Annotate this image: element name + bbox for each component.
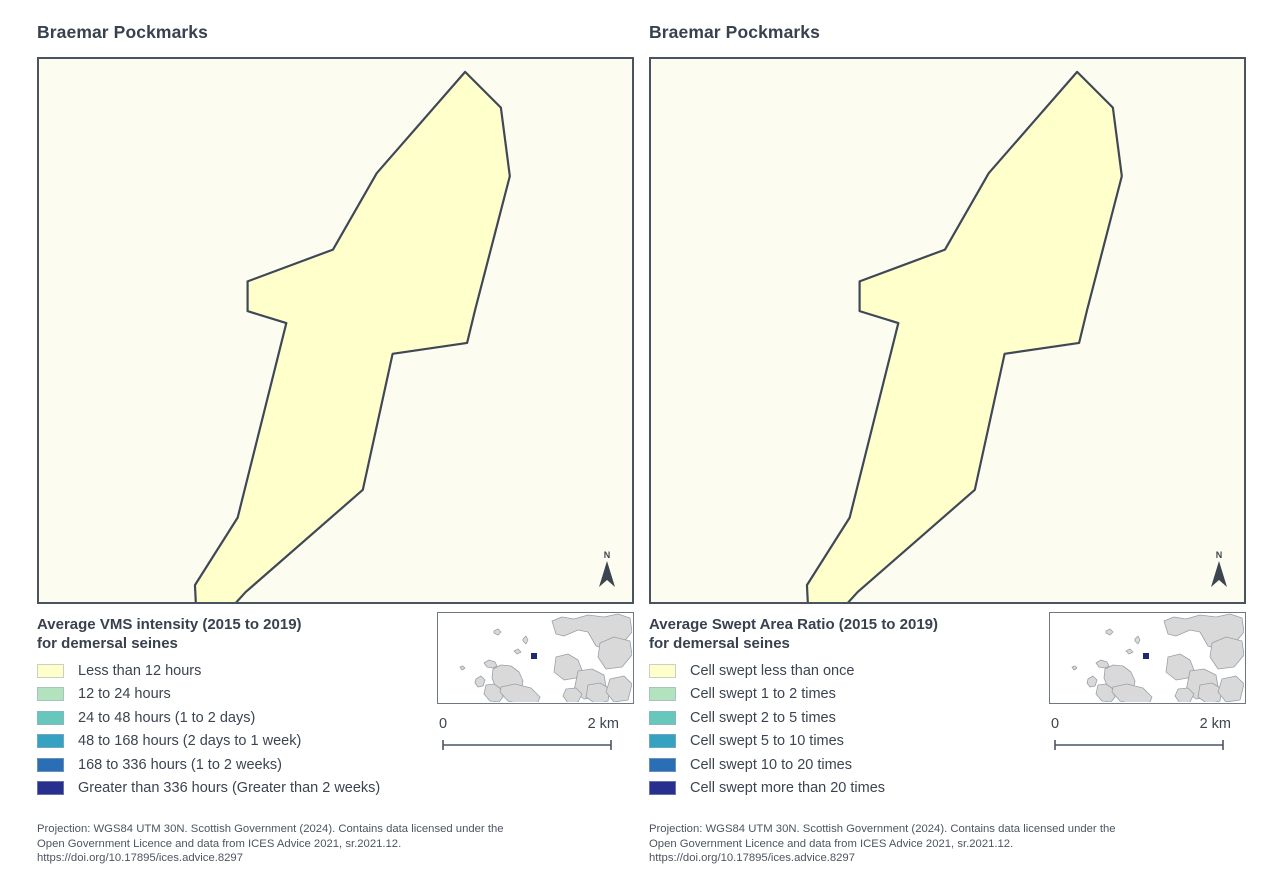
legend-item-list: Cell swept less than once Cell swept 1 t… bbox=[649, 659, 1049, 800]
scale-bar-graphic bbox=[439, 739, 619, 751]
inset-locator-block: 0 2 km bbox=[437, 612, 634, 756]
legend-item[interactable]: 168 to 336 hours (1 to 2 weeks) bbox=[37, 753, 437, 777]
credits-line-3: https://doi.org/10.17895/ices.advice.829… bbox=[37, 851, 637, 866]
inset-map-graphic bbox=[438, 613, 632, 702]
legend-color-swatch bbox=[649, 758, 676, 772]
legend-swept-area-ratio: Average Swept Area Ratio (2015 to 2019) … bbox=[649, 615, 1049, 800]
inset-locator-map[interactable] bbox=[1049, 612, 1246, 704]
legend-color-swatch bbox=[649, 781, 676, 795]
legend-item[interactable]: Cell swept 1 to 2 times bbox=[649, 683, 1049, 707]
north-arrow-label: N bbox=[1208, 550, 1230, 560]
legend-item-label: Cell swept 5 to 10 times bbox=[690, 733, 844, 749]
north-arrow-icon: N bbox=[596, 550, 618, 594]
credits-line-2: Open Government Licence and data from IC… bbox=[649, 837, 1249, 852]
legend-item[interactable]: 12 to 24 hours bbox=[37, 683, 437, 707]
north-arrow-icon: N bbox=[1208, 550, 1230, 594]
legend-item-label: Cell swept 10 to 20 times bbox=[690, 757, 852, 773]
legend-color-swatch bbox=[37, 664, 64, 678]
map-canvas-vms[interactable]: N bbox=[37, 57, 634, 604]
legend-color-swatch bbox=[649, 664, 676, 678]
map-credits: Projection: WGS84 UTM 30N. Scottish Gove… bbox=[649, 822, 1249, 866]
scale-bar: 0 2 km bbox=[439, 716, 619, 756]
legend-title-line2: for demersal seines bbox=[649, 634, 1049, 653]
map-figure-page: Braemar Pockmarks N Average VMS intensit… bbox=[0, 0, 1280, 896]
scale-bar-labels: 0 2 km bbox=[1051, 716, 1231, 732]
map-vector-layer bbox=[651, 59, 1244, 602]
legend-color-swatch bbox=[37, 781, 64, 795]
legend-item[interactable]: Cell swept more than 20 times bbox=[649, 777, 1049, 801]
scale-bar-max-label: 2 km bbox=[588, 716, 619, 732]
legend-color-swatch bbox=[37, 758, 64, 772]
legend-title-line1: Average VMS intensity (2015 to 2019) bbox=[37, 615, 437, 634]
scale-bar-min-label: 0 bbox=[439, 716, 447, 732]
site-boundary-polygon[interactable] bbox=[195, 72, 510, 602]
scale-bar: 0 2 km bbox=[1051, 716, 1231, 756]
legend-item[interactable]: Greater than 336 hours (Greater than 2 w… bbox=[37, 777, 437, 801]
map-vector-layer bbox=[39, 59, 632, 602]
north-arrow-label: N bbox=[596, 550, 618, 560]
map-canvas-sar[interactable]: N bbox=[649, 57, 1246, 604]
legend-title: Average Swept Area Ratio (2015 to 2019) … bbox=[649, 615, 1049, 653]
legend-color-swatch bbox=[37, 711, 64, 725]
north-arrow-glyph bbox=[1208, 560, 1230, 590]
credits-line-2: Open Government Licence and data from IC… bbox=[37, 837, 637, 852]
inset-locator-map[interactable] bbox=[437, 612, 634, 704]
page-title: Braemar Pockmarks bbox=[649, 22, 820, 43]
legend-item-label: 48 to 168 hours (2 days to 1 week) bbox=[78, 733, 301, 749]
legend-item[interactable]: Cell swept 5 to 10 times bbox=[649, 730, 1049, 754]
inset-map-graphic bbox=[1050, 613, 1244, 702]
legend-item-label: Greater than 336 hours (Greater than 2 w… bbox=[78, 780, 380, 796]
map-panel-swept-area-ratio: Braemar Pockmarks N Average Swept Area R… bbox=[640, 0, 1254, 896]
legend-item[interactable]: Cell swept 10 to 20 times bbox=[649, 753, 1049, 777]
map-credits: Projection: WGS84 UTM 30N. Scottish Gove… bbox=[37, 822, 637, 866]
inset-site-marker bbox=[531, 653, 537, 659]
scale-bar-labels: 0 2 km bbox=[439, 716, 619, 732]
legend-color-swatch bbox=[37, 687, 64, 701]
inset-site-marker bbox=[1143, 653, 1149, 659]
credits-line-1: Projection: WGS84 UTM 30N. Scottish Gove… bbox=[649, 822, 1249, 837]
site-boundary-polygon[interactable] bbox=[807, 72, 1122, 602]
legend-item[interactable]: Cell swept less than once bbox=[649, 659, 1049, 683]
legend-item-label: Cell swept more than 20 times bbox=[690, 780, 885, 796]
legend-color-swatch bbox=[649, 734, 676, 748]
legend-item[interactable]: 48 to 168 hours (2 days to 1 week) bbox=[37, 730, 437, 754]
legend-title-line1: Average Swept Area Ratio (2015 to 2019) bbox=[649, 615, 1049, 634]
scale-bar-graphic bbox=[1051, 739, 1231, 751]
legend-item-label: Less than 12 hours bbox=[78, 663, 201, 679]
legend-item[interactable]: 24 to 48 hours (1 to 2 days) bbox=[37, 706, 437, 730]
legend-item[interactable]: Cell swept 2 to 5 times bbox=[649, 706, 1049, 730]
credits-line-3: https://doi.org/10.17895/ices.advice.829… bbox=[649, 851, 1249, 866]
inset-locator-block: 0 2 km bbox=[1049, 612, 1246, 756]
scale-bar-min-label: 0 bbox=[1051, 716, 1059, 732]
legend-title-line2: for demersal seines bbox=[37, 634, 437, 653]
legend-item[interactable]: Less than 12 hours bbox=[37, 659, 437, 683]
page-title: Braemar Pockmarks bbox=[37, 22, 208, 43]
legend-color-swatch bbox=[649, 711, 676, 725]
map-panel-vms-intensity: Braemar Pockmarks N Average VMS intensit… bbox=[28, 0, 642, 896]
legend-item-label: 168 to 336 hours (1 to 2 weeks) bbox=[78, 757, 282, 773]
credits-line-1: Projection: WGS84 UTM 30N. Scottish Gove… bbox=[37, 822, 637, 837]
legend-item-label: Cell swept 1 to 2 times bbox=[690, 686, 836, 702]
legend-item-list: Less than 12 hours 12 to 24 hours 24 to … bbox=[37, 659, 437, 800]
scale-bar-max-label: 2 km bbox=[1200, 716, 1231, 732]
north-arrow-glyph bbox=[596, 560, 618, 590]
legend-color-swatch bbox=[37, 734, 64, 748]
legend-item-label: 12 to 24 hours bbox=[78, 686, 171, 702]
legend-vms-intensity: Average VMS intensity (2015 to 2019) for… bbox=[37, 615, 437, 800]
legend-item-label: Cell swept 2 to 5 times bbox=[690, 710, 836, 726]
legend-color-swatch bbox=[649, 687, 676, 701]
legend-item-label: Cell swept less than once bbox=[690, 663, 854, 679]
legend-title: Average VMS intensity (2015 to 2019) for… bbox=[37, 615, 437, 653]
legend-item-label: 24 to 48 hours (1 to 2 days) bbox=[78, 710, 255, 726]
